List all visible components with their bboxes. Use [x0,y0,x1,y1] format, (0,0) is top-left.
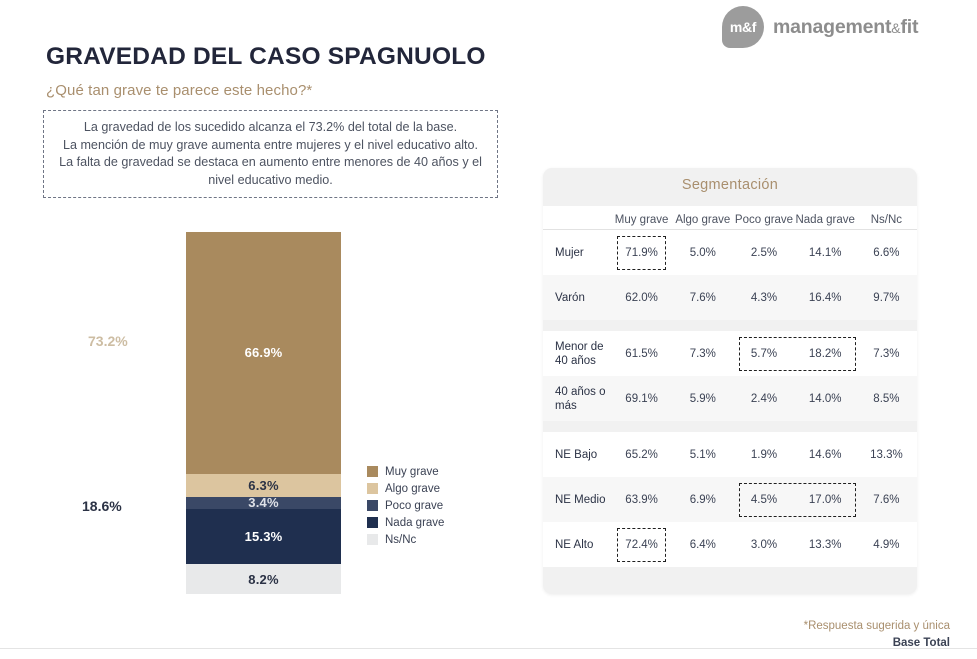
bar-segment-poco-grave: 3.4% [186,497,341,509]
table-cell: 63.9% [611,494,672,506]
table-cell: 6.9% [672,494,733,506]
table-column-header: Nada grave [795,214,856,226]
legend-item-nada-grave[interactable]: Nada grave [367,515,444,530]
legend-item-algo-grave[interactable]: Algo grave [367,481,444,496]
table-column-header: Algo grave [672,214,733,226]
table-row-label: Menor de 40 años [543,340,611,368]
table-cell: 4.5% [733,494,794,506]
table-cell: 62.0% [611,292,672,304]
table-row-label: Varón [543,291,611,305]
table-cell: 69.1% [611,393,672,405]
table-column-header: Muy grave [611,214,672,226]
table-row-label: 40 años o más [543,385,611,413]
chart-legend: Muy graveAlgo gravePoco graveNada graveN… [367,464,444,547]
table-column-header: Poco grave [733,214,794,226]
table-header-row: Muy graveAlgo gravePoco graveNada graveN… [543,206,917,230]
table-cell: 14.6% [795,449,856,461]
table-cell: 4.9% [856,539,917,551]
table-cell: 71.9% [611,247,672,259]
legend-swatch-icon [367,534,378,545]
logo-wordmark: management&fit [773,16,918,39]
table-cell: 5.1% [672,449,733,461]
footnote: *Respuesta sugerida y única [804,620,950,632]
table-cell: 5.7% [733,348,794,360]
legend-swatch-icon [367,517,378,528]
legend-label: Nada grave [385,517,444,529]
table-cell: 4.3% [733,292,794,304]
table-cell: 9.7% [856,292,917,304]
bar-segment-nada-grave: 15.3% [186,509,341,564]
table-cell: 6.6% [856,247,917,259]
table-row[interactable]: NE Medio63.9%6.9%4.5%17.0%7.6% [543,477,917,522]
table-row[interactable]: NE Bajo65.2%5.1%1.9%14.6%13.3% [543,432,917,477]
brand-logo: m&f management&fit [722,6,918,48]
table-row[interactable]: Menor de 40 años61.5%7.3%5.7%18.2%7.3% [543,331,917,376]
table-cell: 61.5% [611,348,672,360]
table-row-label: Mujer [543,246,611,260]
table-cell: 16.4% [795,292,856,304]
legend-swatch-icon [367,466,378,477]
table-cell: 18.2% [795,348,856,360]
logo-word-management: management [773,16,891,38]
table-group-separator [543,320,917,331]
table-cell: 2.4% [733,393,794,405]
table-cell: 14.0% [795,393,856,405]
bar-segment-value: 15.3% [245,529,283,544]
insight-line-2: La mención de muy grave aumenta entre mu… [63,137,478,155]
bracket-label-grave-total: 73.2% [88,333,128,349]
logo-word-fit: fit [900,16,918,38]
legend-label: Muy grave [385,466,439,478]
table-row[interactable]: Varón62.0%7.6%4.3%16.4%9.7% [543,275,917,320]
logo-mark-icon: m&f [722,6,764,48]
bar-segment-muy-grave: 66.9% [186,232,341,474]
question-subtitle: ¿Qué tan grave te parece este hecho?* [46,82,312,99]
table-cell: 6.4% [672,539,733,551]
bar-segment-ns-nc: 8.2% [186,564,341,594]
table-row-label: NE Alto [543,538,611,552]
page-title: GRAVEDAD DEL CASO SPAGNUOLO [46,43,486,71]
table-row-label: NE Medio [543,493,611,507]
bar-segment-value: 6.3% [248,478,278,493]
insight-callout-box: La gravedad de los sucedido alcanza el 7… [43,110,498,198]
table-cell: 5.0% [672,247,733,259]
table-row[interactable]: Mujer71.9%5.0%2.5%14.1%6.6% [543,230,917,275]
stacked-bar-chart: 66.9%6.3%3.4%15.3%8.2% [186,232,341,594]
insight-line-3: La falta de gravedad se destaca en aumen… [52,154,489,189]
legend-label: Poco grave [385,500,443,512]
insight-line-1: La gravedad de los sucedido alcanza el 7… [84,119,457,137]
table-column-header: Ns/Nc [856,214,917,226]
legend-swatch-icon [367,483,378,494]
table-cell: 5.9% [672,393,733,405]
legend-item-poco-grave[interactable]: Poco grave [367,498,444,513]
legend-item-muy-grave[interactable]: Muy grave [367,464,444,479]
table-row[interactable]: NE Alto72.4%6.4%3.0%13.3%4.9% [543,522,917,567]
bar-segment-algo-grave: 6.3% [186,474,341,497]
table-group-separator [543,421,917,432]
table-cell: 14.1% [795,247,856,259]
table-cell: 7.6% [672,292,733,304]
table-cell: 65.2% [611,449,672,461]
bar-segment-value: 66.9% [245,345,283,360]
table-cell: 7.3% [672,348,733,360]
legend-label: Ns/Nc [385,534,416,546]
table-cell: 7.6% [856,494,917,506]
table-cell: 17.0% [795,494,856,506]
legend-swatch-icon [367,500,378,511]
table-cell: 1.9% [733,449,794,461]
segmentation-card: Segmentación Muy graveAlgo gravePoco gra… [543,168,917,594]
segmentation-title: Segmentación [543,177,917,193]
table-cell: 2.5% [733,247,794,259]
table-cell: 13.3% [856,449,917,461]
bar-segment-value: 8.2% [248,572,278,587]
legend-item-ns-nc[interactable]: Ns/Nc [367,532,444,547]
table-row-label: NE Bajo [543,448,611,462]
table-row[interactable]: 40 años o más69.1%5.9%2.4%14.0%8.5% [543,376,917,421]
legend-label: Algo grave [385,483,440,495]
segmentation-table: Muy graveAlgo gravePoco graveNada graveN… [543,206,917,567]
table-cell: 3.0% [733,539,794,551]
bottom-divider [0,648,977,649]
table-cell: 13.3% [795,539,856,551]
table-cell: 72.4% [611,539,672,551]
table-cell: 7.3% [856,348,917,360]
bracket-label-no-grave-total: 18.6% [82,498,122,514]
table-cell: 8.5% [856,393,917,405]
